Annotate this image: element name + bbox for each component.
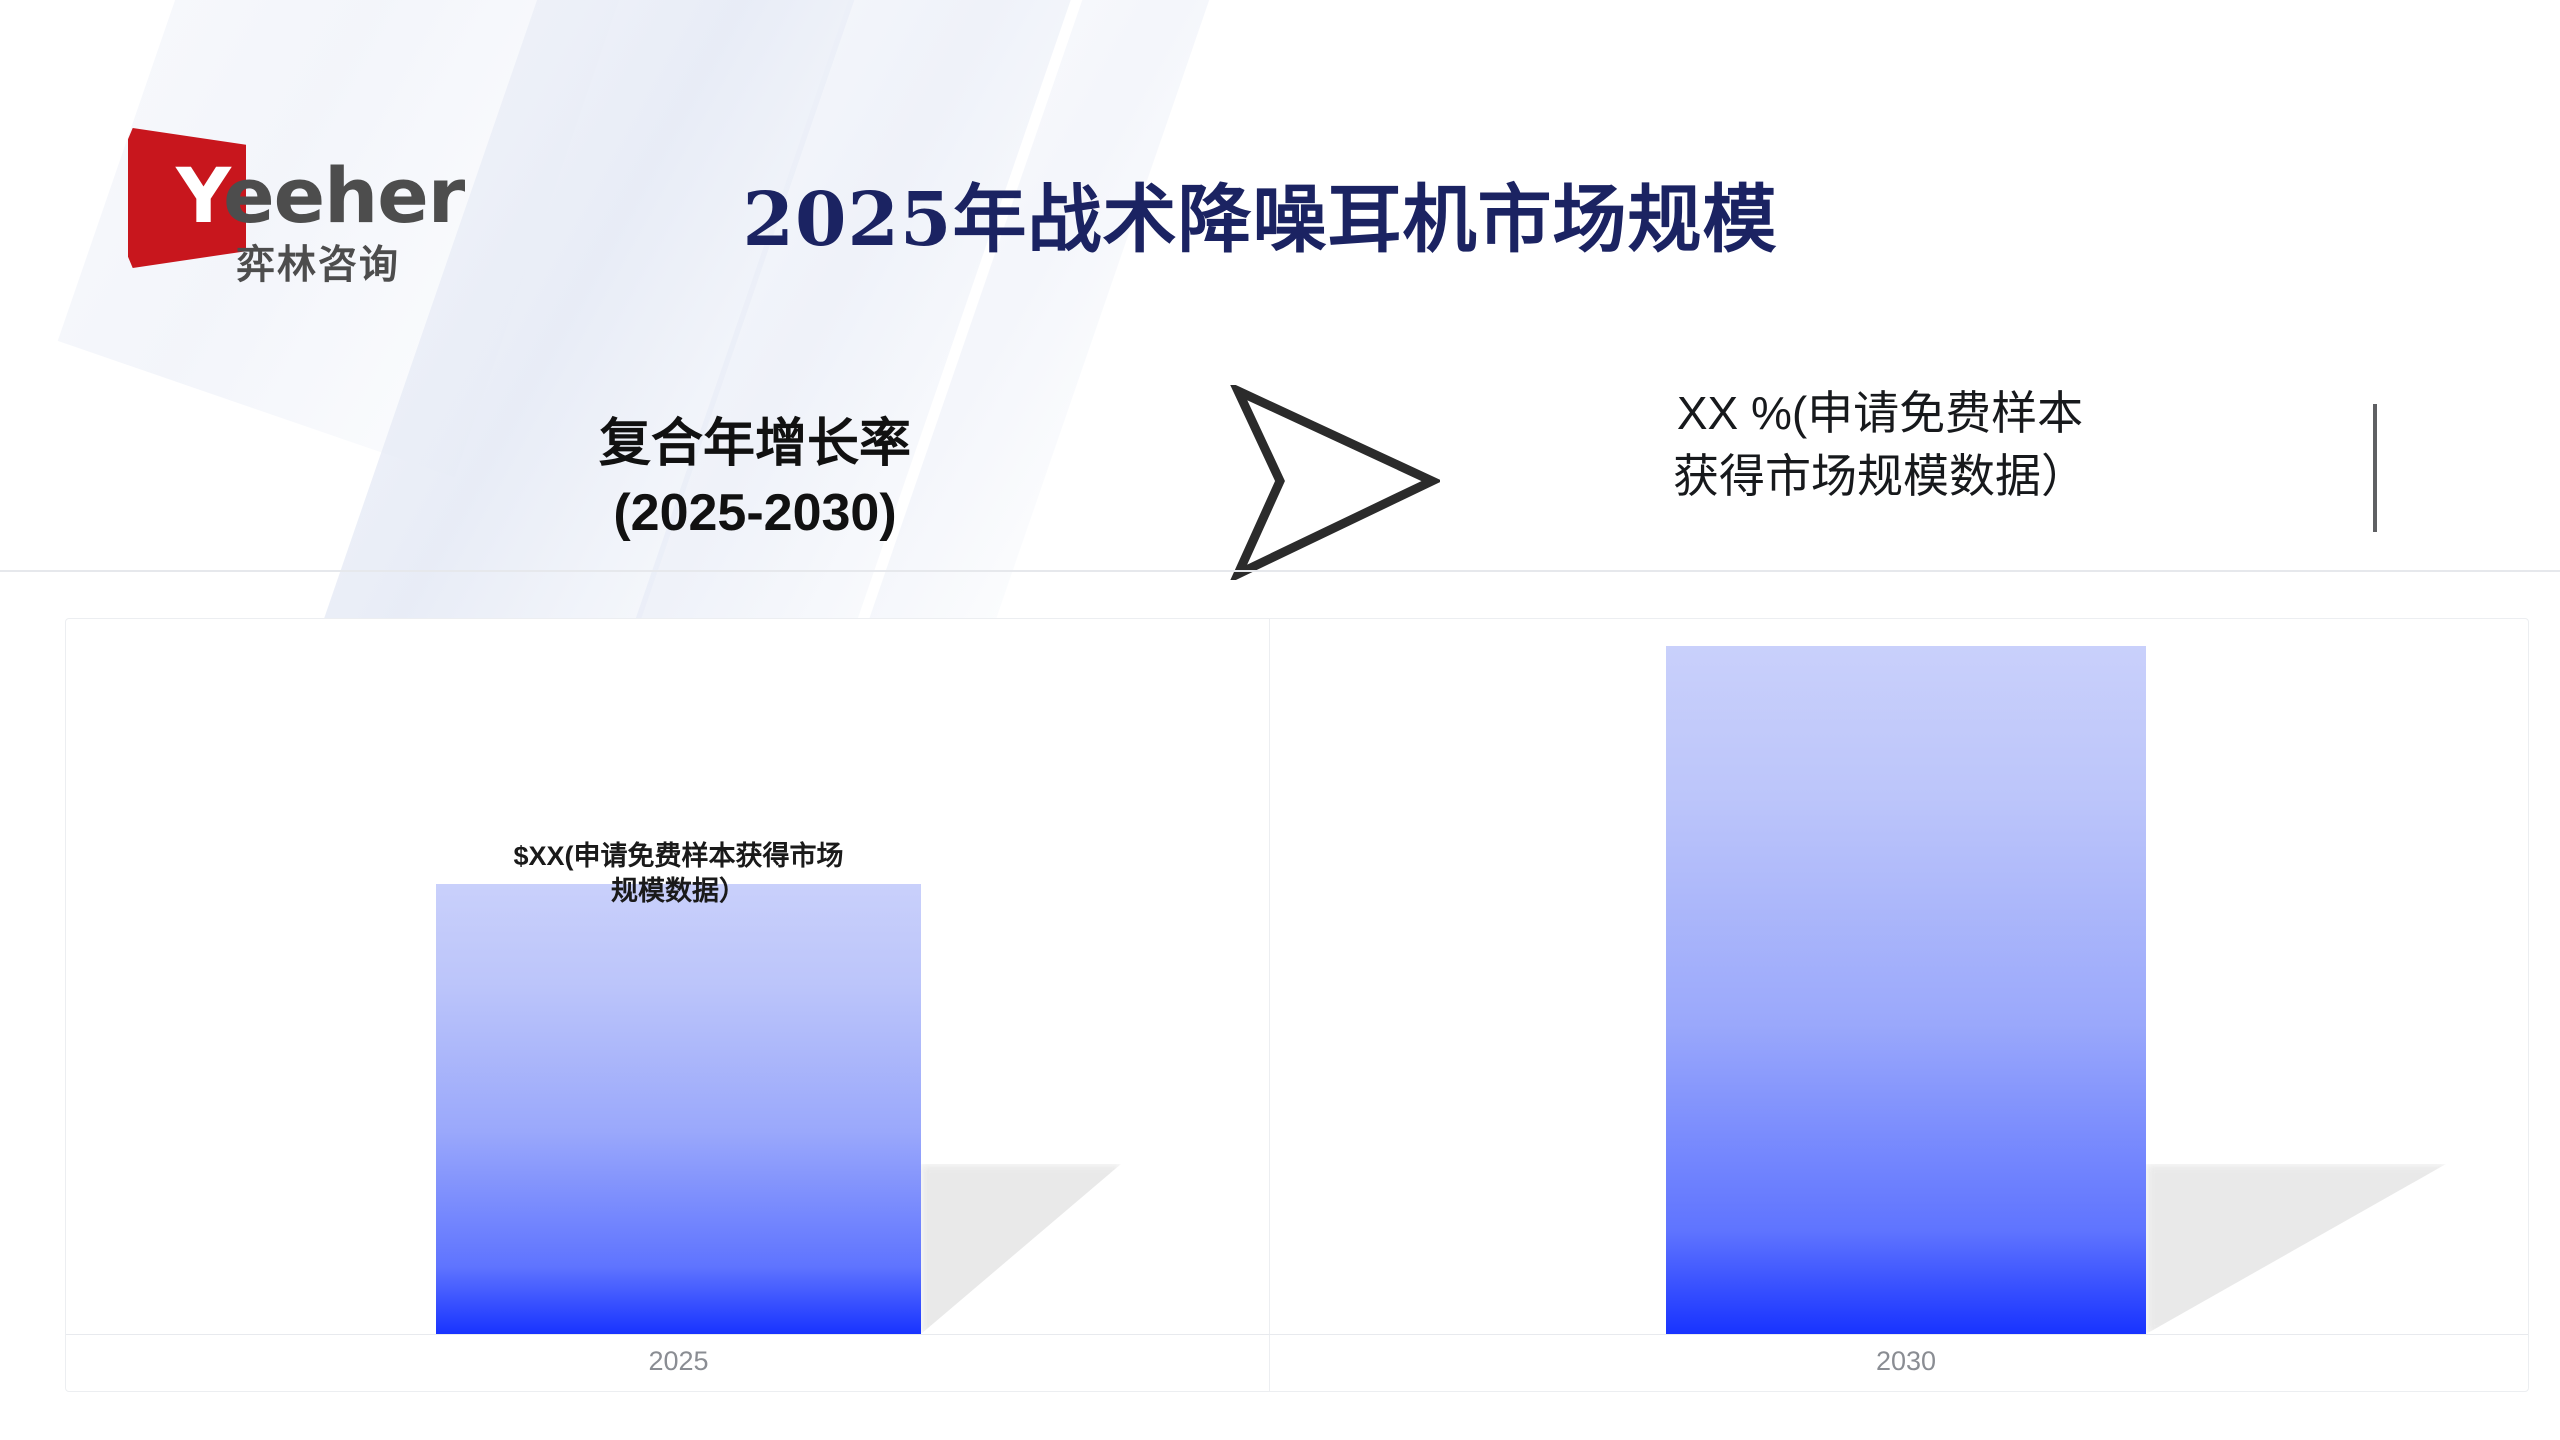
bar-shadow-2025 (921, 1164, 1121, 1334)
header-right-rule (2373, 404, 2377, 532)
logo-subtitle: 弈林咨询 (236, 246, 400, 285)
x-axis-line (66, 1334, 2528, 1335)
cagr-label-line2: (2025-2030) (520, 479, 990, 548)
category-label-2025: 2025 (436, 1346, 921, 1377)
cagr-label: 复合年增长率 (2025-2030) (520, 410, 990, 547)
arrow-right-outline-icon (1230, 385, 1440, 580)
cagr-value: XX %(申请免费样本 获得市场规模数据） (1600, 382, 2160, 509)
bar-shadow-2030 (2146, 1164, 2446, 1334)
logo-word-rest: eeher (223, 151, 464, 240)
brand-logo: Yeeher 弈林咨询 (128, 118, 488, 308)
background-swoosh-4 (850, 0, 1289, 712)
logo-wordmark: Yeeher (176, 158, 464, 234)
bar-2030[interactable] (1666, 646, 2146, 1334)
logo-letter-y: Y (176, 151, 223, 240)
bar-value-line1: $XX(申请免费样本获得市场 (396, 839, 961, 874)
cagr-value-line2: 获得市场规模数据） (1600, 445, 2160, 508)
panel-divider (1269, 619, 1270, 1391)
bar-chart-card: $XX(申请免费样本获得市场 规模数据） 2025 2030 (65, 618, 2529, 1392)
bar-2025[interactable] (436, 884, 921, 1334)
bar-value-label-2025: $XX(申请免费样本获得市场 规模数据） (396, 839, 961, 909)
header-separator (0, 570, 2560, 572)
bar-value-line2: 规模数据） (396, 874, 961, 909)
category-label-2030: 2030 (1666, 1346, 2146, 1377)
cagr-value-line1: XX %(申请免费样本 (1600, 382, 2160, 445)
cagr-label-line1: 复合年增长率 (520, 410, 990, 479)
page-title: 2025年战术降噪耳机市场规模 (660, 160, 1860, 267)
